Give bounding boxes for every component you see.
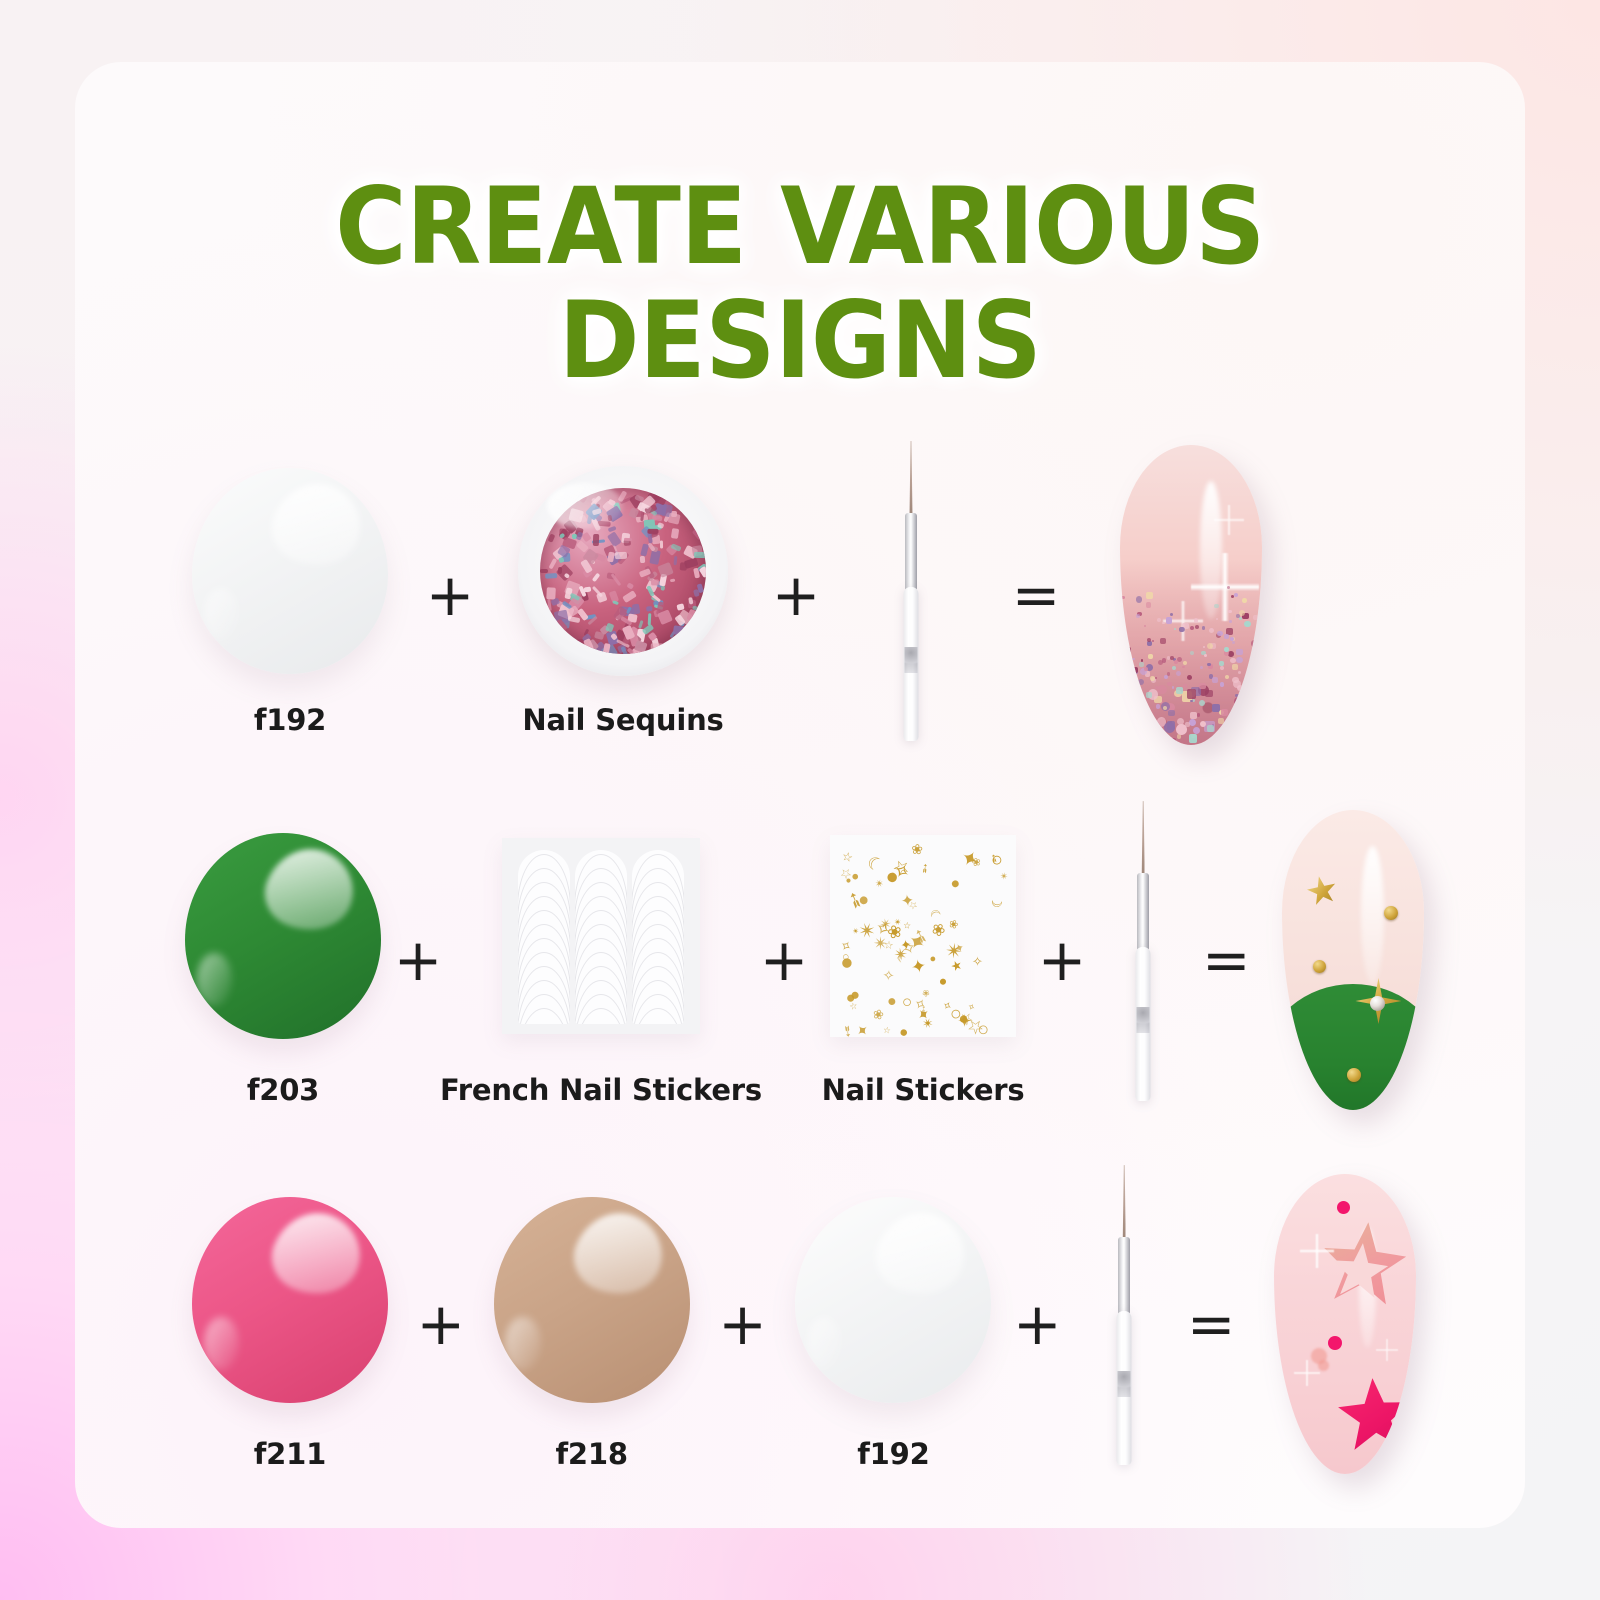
- page-title-line-2: DESIGNS: [133, 284, 1467, 398]
- glitter-particle: [1204, 654, 1206, 656]
- glitter-particle: [1169, 738, 1176, 745]
- brush-ferrule: [1137, 873, 1149, 951]
- design-row-1: f192 + Nail Sequins + =: [185, 430, 1440, 760]
- glitter-particle: [1189, 734, 1197, 742]
- product-cell-f192[interactable]: f192: [185, 453, 395, 737]
- glitter-particle: [1202, 626, 1205, 629]
- nail-stickers-art: ✦✧☆✦○★☆☆●✴✧❀❀☆✴☽☆➴✧●❀○❀✴❀✴❀✴○➴●✦✦☽➴✴✴●☽●…: [830, 813, 1016, 1059]
- swatch-f218-label: f218: [555, 1437, 627, 1471]
- brush-art: [1127, 795, 1159, 1125]
- page-title-line-1: CREATE VARIOUS: [133, 170, 1467, 284]
- glitter-particle: [1156, 704, 1161, 709]
- nail-gloss-highlight: [1361, 846, 1384, 984]
- glitter-particle: [1217, 631, 1222, 636]
- glitter-particle: [1148, 654, 1153, 659]
- swatch-f211-art: [192, 1177, 388, 1423]
- glitter-particle: [1127, 708, 1136, 717]
- design-row-2: f203 + French Nail Stickers + ✦✧☆✦○★☆☆●✴…: [185, 790, 1440, 1130]
- glitter-particle: [1227, 733, 1232, 738]
- french-guide-strip: [632, 850, 684, 1024]
- sequin-flakes: [540, 488, 706, 654]
- glitter-particle: [1156, 725, 1160, 729]
- product-cell-brush[interactable]: [1076, 1159, 1172, 1489]
- product-cell-french-stickers[interactable]: French Nail Stickers: [455, 813, 747, 1107]
- operator-plus: +: [747, 837, 821, 1083]
- glitter-particle: [1199, 683, 1205, 689]
- nail-result-pink-stars: [1274, 1174, 1416, 1474]
- sparkle-icon: [1300, 1234, 1334, 1268]
- nail-sequins-label: Nail Sequins: [522, 703, 723, 737]
- french-nail-stickers-sheet: [502, 838, 700, 1034]
- glitter-particle: [1236, 657, 1242, 663]
- glitter-particle: [1125, 668, 1131, 674]
- glitter-particle: [1209, 628, 1214, 633]
- glitter-particle: [1136, 596, 1142, 602]
- french-nail-stickers-label: French Nail Stickers: [440, 1073, 762, 1107]
- product-cell-f203[interactable]: f203: [185, 813, 381, 1107]
- glitter-particle: [1157, 618, 1161, 622]
- green-french-tip: [1282, 984, 1424, 1110]
- painted-star-solid-icon: [1335, 1376, 1414, 1455]
- glitter-particle: [1246, 706, 1254, 714]
- glitter-particle: [1242, 598, 1247, 603]
- glitter-particle: [1139, 662, 1144, 667]
- gold-celestial-motif-icon: ○: [990, 851, 1004, 872]
- gold-celestial-motif-icon: ✦: [908, 957, 929, 976]
- product-cell-nail-stickers[interactable]: ✦✧☆✦○★☆☆●✴✧❀❀☆✴☽☆➴✧●❀○❀✴❀✴❀✴○➴●✦✦☽➴✴✴●☽●…: [821, 813, 1025, 1107]
- french-guide-strip: [575, 850, 627, 1024]
- nail-result-2-art: [1282, 795, 1424, 1125]
- gold-celestial-motif-icon: ➴: [838, 1021, 857, 1037]
- glitter-particle: [1244, 621, 1250, 627]
- glitter-particle: [1242, 728, 1246, 732]
- gold-dot-charm-icon: [1313, 960, 1326, 973]
- brush-bristle-tip: [1142, 801, 1145, 877]
- gem-stone-icon: [1370, 996, 1385, 1011]
- brush-bristle-tip: [1123, 1165, 1126, 1241]
- gold-celestial-motif-icon: ❀: [908, 840, 925, 858]
- glitter-particle: [1224, 647, 1229, 652]
- brush-art: [895, 435, 927, 755]
- glitter-particle: [1155, 677, 1157, 679]
- glitter-particle: [1160, 638, 1166, 644]
- gold-celestial-motif-icon: ☆: [908, 900, 920, 911]
- gold-celestial-motif-icon: ○: [899, 993, 914, 1012]
- glitter-particle: [1147, 638, 1151, 642]
- nail-art-liner-brush: [1127, 795, 1159, 1101]
- brush-logo-icon: [1118, 1371, 1131, 1397]
- glitter-particle: [1228, 610, 1231, 613]
- operator-plus: +: [697, 1201, 789, 1447]
- product-cell-f211[interactable]: f211: [185, 1177, 395, 1471]
- gold-celestial-motif-icon: ●: [886, 994, 897, 1011]
- glitter-particle: [1133, 722, 1143, 732]
- glitter-particle: [1168, 710, 1175, 717]
- glitter-particle: [1136, 614, 1140, 618]
- product-cell-nail-sequins[interactable]: Nail Sequins: [505, 453, 741, 737]
- nail-stickers-label: Nail Stickers: [822, 1073, 1025, 1107]
- swatch-f192: [795, 1197, 991, 1403]
- nail-result-3-art: [1274, 1159, 1416, 1489]
- result-cell-2[interactable]: [1265, 795, 1440, 1125]
- operator-plus: +: [1025, 837, 1099, 1083]
- glitter-particle: [1122, 729, 1130, 737]
- nail-result-green-french: [1282, 810, 1424, 1110]
- sparkle-icon: [1294, 1360, 1320, 1386]
- glitter-particle: [1218, 718, 1223, 723]
- gold-celestial-motif-icon: ☽: [865, 852, 887, 875]
- french-stickers-art: [502, 813, 700, 1059]
- glitter-particle: [1146, 602, 1151, 607]
- glitter-particle: [1221, 709, 1228, 716]
- glitter-particle: [1128, 696, 1136, 704]
- swatch-f203: [185, 833, 381, 1039]
- operator-plus: +: [998, 1201, 1076, 1447]
- gold-celestial-motif-icon: ●: [879, 865, 904, 890]
- swatch-f192-label: f192: [254, 703, 326, 737]
- glitter-particle: [1167, 682, 1172, 687]
- glitter-particle: [1163, 706, 1167, 710]
- gold-celestial-motif-icon: ➴: [917, 860, 933, 876]
- operator-plus: +: [395, 1201, 487, 1447]
- result-cell-3[interactable]: [1250, 1159, 1440, 1489]
- operator-plus: +: [381, 837, 455, 1083]
- operator-plus: +: [395, 477, 505, 713]
- gold-celestial-motif-icon: ●: [934, 973, 950, 989]
- product-cell-f192[interactable]: f192: [789, 1177, 999, 1471]
- brush-logo-icon: [905, 647, 918, 673]
- glitter-particle: [1132, 731, 1138, 737]
- swatch-f203-art: [185, 813, 381, 1059]
- operator-plus: +: [741, 477, 851, 713]
- swatch-f203-label: f203: [247, 1073, 319, 1107]
- pink-dot-icon: [1328, 1336, 1342, 1350]
- glitter-particle: [1155, 686, 1158, 689]
- glitter-particle: [1244, 696, 1254, 706]
- glitter-particle: [1249, 658, 1255, 664]
- nail-result-glitter-ombre: [1120, 445, 1262, 745]
- glitter-particle: [1190, 712, 1198, 720]
- swatch-f192-label: f192: [857, 1437, 929, 1471]
- brush-ferrule: [1118, 1237, 1130, 1315]
- gold-celestial-motif-icon: ✧: [882, 969, 897, 982]
- glitter-particle: [1227, 586, 1230, 589]
- glitter-particle: [1230, 658, 1236, 664]
- glitter-particle: [1190, 651, 1194, 655]
- swatch-f211-label: f211: [254, 1437, 326, 1471]
- gold-celestial-motif-icon: ☽: [988, 895, 1003, 909]
- nail-art-liner-brush: [1108, 1159, 1140, 1465]
- glitter-particle: [1220, 682, 1225, 687]
- glitter-particle: [1230, 637, 1234, 641]
- operator-equals: =: [1172, 1201, 1250, 1447]
- glitter-particle: [1146, 592, 1153, 599]
- nail-sequins-jar: [518, 466, 728, 676]
- gold-celestial-motif-icon: ✧: [972, 954, 983, 967]
- nail-stickers-sheet: ✦✧☆✦○★☆☆●✴✧❀❀☆✴☽☆➴✧●❀○❀✴❀✴❀✴○➴●✦✦☽➴✴✴●☽●…: [830, 835, 1016, 1037]
- operator-equals: =: [1187, 837, 1265, 1083]
- glitter-particle: [1167, 721, 1176, 730]
- glitter-particle: [1225, 675, 1229, 679]
- gold-star-charm-icon: [1304, 873, 1340, 909]
- glitter-particle: [1251, 640, 1257, 646]
- swatch-f218: [494, 1197, 690, 1403]
- swatch-f192-art: [795, 1177, 991, 1423]
- glitter-particle: [1220, 666, 1224, 670]
- nail-result-1-art: [1120, 435, 1262, 755]
- page-title: CREATE VARIOUS DESIGNS: [75, 170, 1525, 399]
- gold-celestial-motif-icon: ☆: [838, 866, 854, 881]
- gold-celestial-motif-icon: ✦: [957, 1011, 973, 1029]
- product-cell-brush[interactable]: [851, 435, 971, 755]
- nail-sequins-art: [518, 453, 728, 689]
- glitter-particle: [1176, 724, 1187, 735]
- swatch-f192: [192, 468, 388, 674]
- glitter-particle: [1207, 725, 1214, 732]
- glitter-particle: [1146, 692, 1152, 698]
- gold-celestial-motif-icon: ●: [895, 1026, 912, 1037]
- swatch-f218-art: [494, 1177, 690, 1423]
- gold-celestial-motif-icon: ❀: [871, 1008, 885, 1020]
- glitter-particle: [1158, 660, 1163, 665]
- glitter-particle: [1166, 617, 1172, 623]
- gold-celestial-motif-icon: ●: [945, 878, 963, 891]
- glitter-particle: [1232, 664, 1238, 670]
- glitter-particle: [1177, 734, 1181, 738]
- brush-art: [1108, 1159, 1140, 1489]
- glitter-particle: [1216, 735, 1225, 744]
- glitter-particle: [1187, 675, 1192, 680]
- glitter-particle: [1236, 649, 1243, 656]
- glitter-particle: [1205, 690, 1212, 697]
- gold-celestial-motif-icon: ☆: [840, 849, 855, 864]
- sparkle-icon: [1376, 1339, 1398, 1361]
- glitter-particle: [1162, 622, 1164, 624]
- gold-celestial-motif-icon: ☆: [881, 1025, 892, 1036]
- sparkle-icon: [1214, 505, 1244, 535]
- glitter-particle: [1234, 697, 1243, 706]
- brush-bristle-tip: [910, 441, 913, 517]
- gold-celestial-motif-icon: ✦: [958, 847, 985, 873]
- content-card: CREATE VARIOUS DESIGNS f192 + Nail Sequi…: [75, 62, 1525, 1528]
- glitter-particle: [1235, 694, 1239, 698]
- glitter-particle: [1245, 718, 1255, 728]
- gold-dot-charm-icon: [1347, 1068, 1361, 1082]
- swatch-f211: [192, 1197, 388, 1403]
- glitter-particle: [1138, 679, 1144, 685]
- glitter-particle: [1228, 651, 1234, 657]
- pink-dot-icon: [1337, 1201, 1350, 1214]
- swatch-f192-art: [192, 453, 388, 689]
- gold-celestial-motif-icon: ●: [838, 951, 857, 976]
- brush-ferrule: [905, 513, 917, 591]
- glitter-particle: [1232, 641, 1235, 644]
- product-cell-brush[interactable]: [1099, 795, 1187, 1125]
- glitter-particle: [1207, 663, 1211, 667]
- glitter-particle: [1121, 596, 1124, 599]
- gold-dot-charm-icon: [1384, 906, 1398, 920]
- glitter-particle: [1187, 689, 1197, 699]
- glitter-particle: [1132, 678, 1137, 683]
- glitter-particle: [1253, 690, 1260, 697]
- design-row-3: f211 + f218 + f192 +: [185, 1154, 1440, 1494]
- operator-equals: =: [981, 477, 1091, 713]
- glitter-particle: [1176, 687, 1183, 694]
- glitter-particle: [1136, 702, 1146, 712]
- result-cell-1[interactable]: [1091, 435, 1291, 755]
- glitter-particle: [1172, 686, 1174, 688]
- glitter-particle: [1147, 641, 1152, 646]
- glitter-particle: [1131, 667, 1138, 674]
- product-cell-f218[interactable]: f218: [487, 1177, 697, 1471]
- glitter-particle: [1122, 737, 1131, 745]
- glitter-particle: [1254, 703, 1262, 713]
- glitter-particle: [1179, 627, 1184, 632]
- nail-art-liner-brush: [895, 435, 927, 741]
- brush-logo-icon: [1137, 1007, 1150, 1033]
- glitter-particle: [1123, 685, 1134, 696]
- glitter-particle: [1212, 677, 1217, 682]
- glitter-particle: [1137, 712, 1146, 721]
- french-guide-strip: [518, 850, 570, 1024]
- glitter-particle: [1144, 667, 1148, 671]
- gold-celestial-motif-icon: ❀: [948, 917, 962, 931]
- glitter-particle: [1194, 618, 1199, 623]
